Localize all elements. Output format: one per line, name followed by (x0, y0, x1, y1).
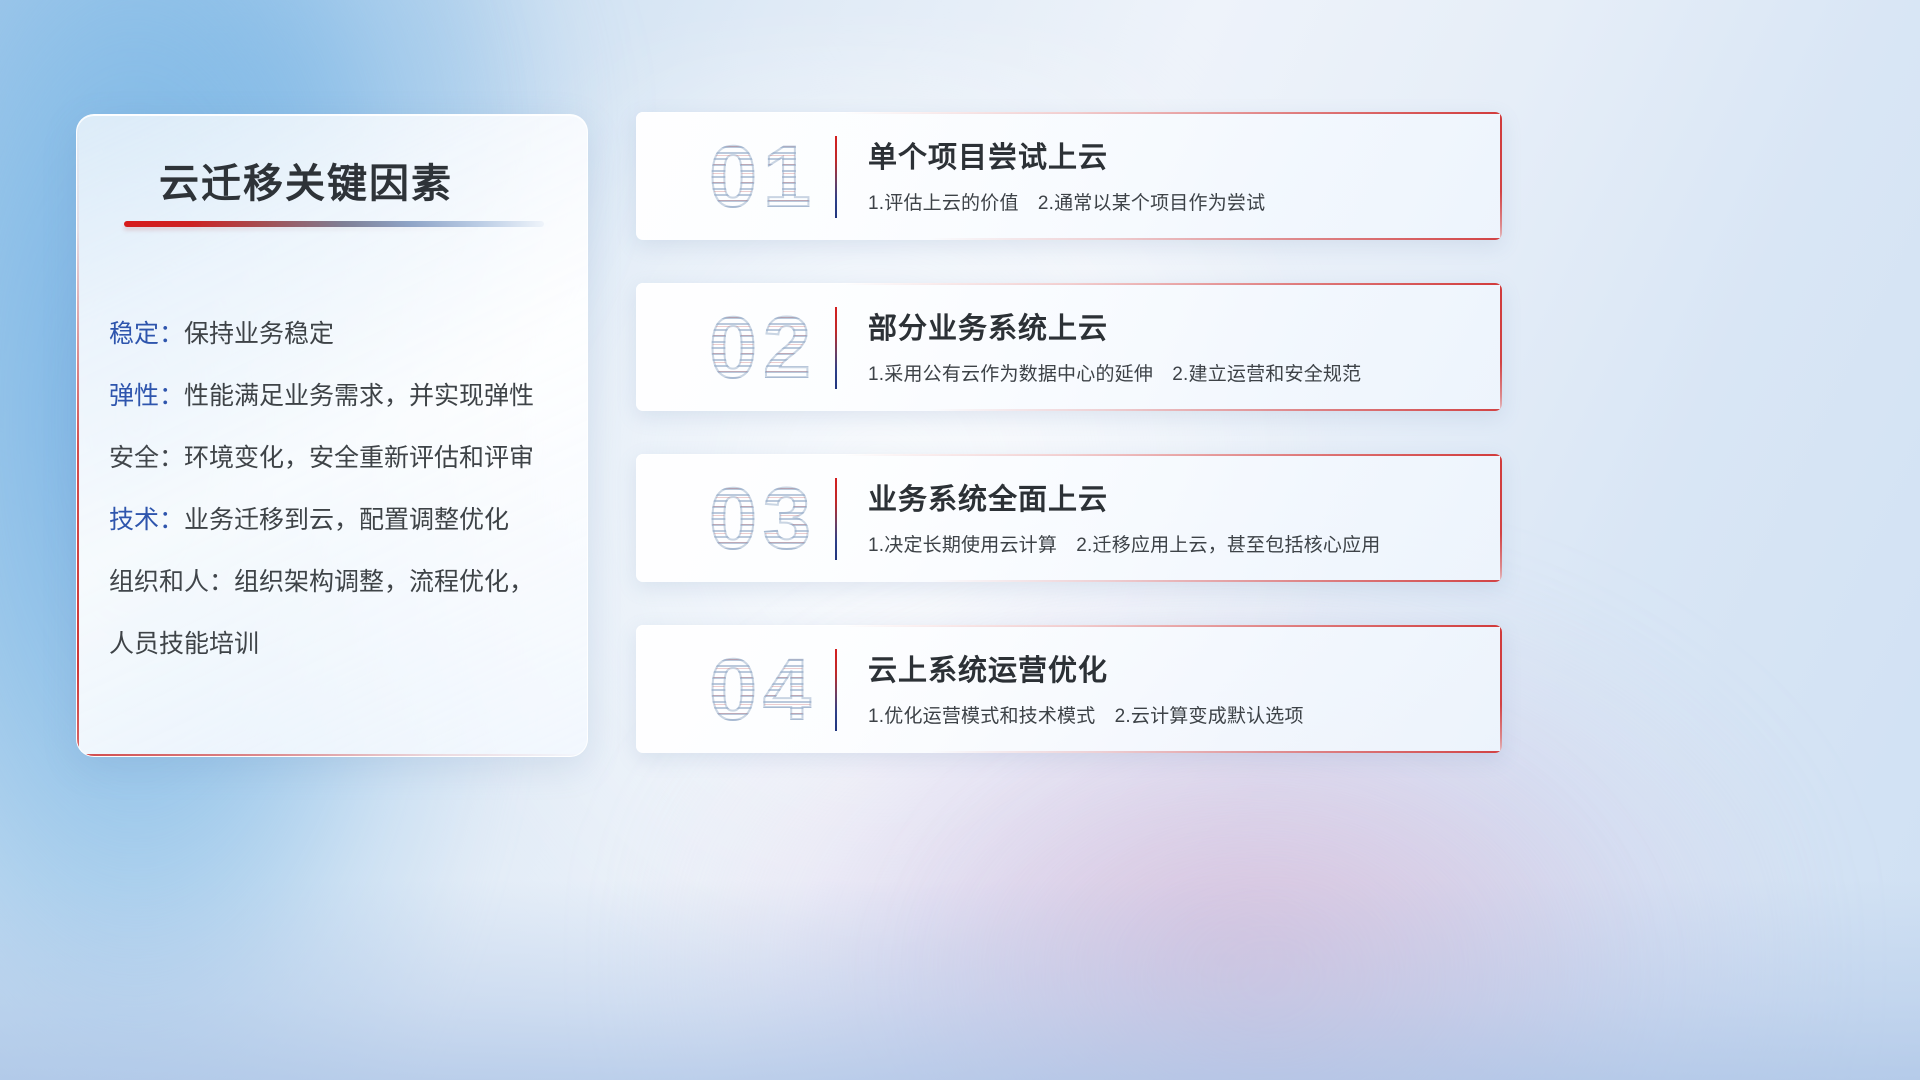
list-item-label: 技术： (109, 506, 184, 534)
card-right-accent (1500, 454, 1502, 582)
key-factors-list: 稳定：保持业务稳定 弹性：性能满足业务需求，并实现弹性 安全：环境变化，安全重新… (109, 303, 561, 675)
card-bottom-accent (930, 580, 1502, 582)
card-title: 部分业务系统上云 (868, 305, 1108, 347)
panel-left-accent-bar (77, 115, 79, 756)
list-item-label: 弹性： (109, 382, 184, 410)
card-right-accent (1500, 625, 1502, 753)
list-item: 技术：业务迁移到云，配置调整优化 (109, 489, 561, 551)
card-top-accent (844, 283, 1502, 285)
card-description: 1.评估上云的价值 2.通常以某个项目作为尝试 (868, 188, 1265, 215)
list-item-text: 组织架构调整，流程优化， (234, 568, 534, 596)
stage-card[interactable]: 04 04 云上系统运营优化 1.优化运营模式和技术模式 2.云计算变成默认选项 (636, 625, 1502, 753)
card-top-accent (844, 454, 1502, 456)
stage-card[interactable]: 02 02 部分业务系统上云 1.采用公有云作为数据中心的延伸 2.建立运营和安… (636, 283, 1502, 411)
card-divider (835, 307, 837, 389)
list-item-label: 稳定： (109, 320, 184, 348)
list-item-label: 安全： (109, 444, 184, 472)
list-item-label: 组织和人： (109, 568, 234, 596)
card-top-accent (844, 112, 1502, 114)
stage-card[interactable]: 03 03 业务系统全面上云 1.决定长期使用云计算 2.迁移应用上云，甚至包括… (636, 454, 1502, 582)
panel-bottom-accent-bar (77, 754, 587, 756)
list-item: 人员技能培训 (109, 613, 561, 675)
card-description: 1.优化运营模式和技术模式 2.云计算变成默认选项 (868, 701, 1304, 728)
list-item: 组织和人：组织架构调整，流程优化， (109, 551, 561, 613)
background-bottom-band (0, 880, 1920, 1080)
panel-title: 云迁移关键因素 (159, 151, 453, 209)
card-bottom-accent (930, 751, 1502, 753)
card-description: 1.决定长期使用云计算 2.迁移应用上云，甚至包括核心应用 (868, 530, 1381, 557)
list-item-text: 性能满足业务需求，并实现弹性 (184, 382, 534, 410)
list-item: 安全：环境变化，安全重新评估和评审 (109, 427, 561, 489)
list-item-text: 业务迁移到云，配置调整优化 (184, 506, 509, 534)
card-divider (835, 136, 837, 218)
card-divider (835, 649, 837, 731)
card-divider (835, 478, 837, 560)
card-bottom-accent (930, 409, 1502, 411)
key-factors-panel: 云迁移关键因素 稳定：保持业务稳定 弹性：性能满足业务需求，并实现弹性 安全：环… (76, 114, 588, 757)
stage-card[interactable]: 01 01 单个项目尝试上云 1.评估上云的价值 2.通常以某个项目作为尝试 (636, 112, 1502, 240)
panel-title-underline (124, 221, 544, 227)
card-description: 1.采用公有云作为数据中心的延伸 2.建立运营和安全规范 (868, 359, 1361, 386)
card-title: 单个项目尝试上云 (868, 134, 1108, 176)
list-item-text: 人员技能培训 (109, 630, 259, 658)
list-item: 弹性：性能满足业务需求，并实现弹性 (109, 365, 561, 427)
list-item-text: 环境变化，安全重新评估和评审 (184, 444, 534, 472)
card-title: 业务系统全面上云 (868, 476, 1108, 518)
list-item: 稳定：保持业务稳定 (109, 303, 561, 365)
list-item-text: 保持业务稳定 (184, 320, 334, 348)
card-right-accent (1500, 283, 1502, 411)
card-bottom-accent (930, 238, 1502, 240)
card-title: 云上系统运营优化 (868, 647, 1108, 689)
card-top-accent (844, 625, 1502, 627)
card-right-accent (1500, 112, 1502, 240)
stage-cards-column: 01 01 单个项目尝试上云 1.评估上云的价值 2.通常以某个项目作为尝试 0… (636, 112, 1502, 796)
